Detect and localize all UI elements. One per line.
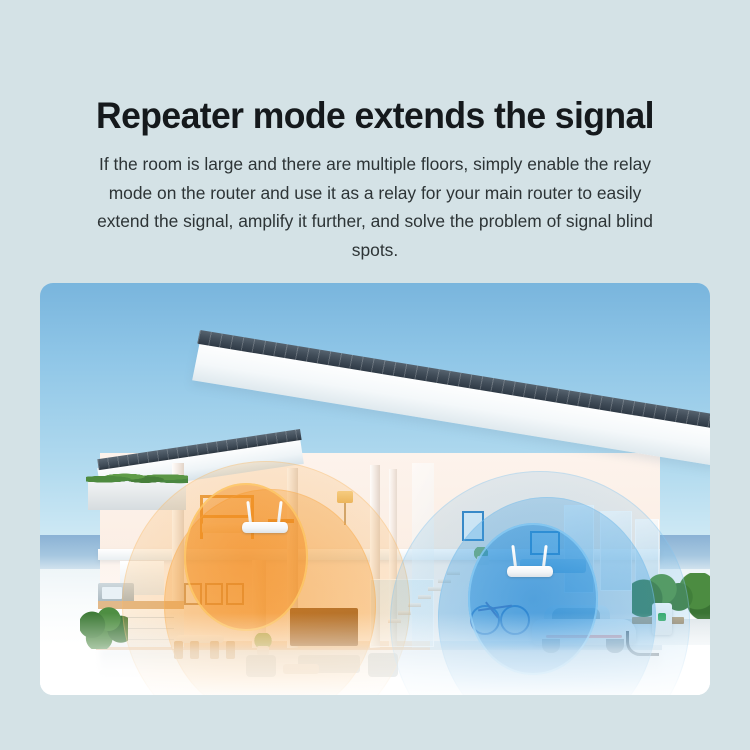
wall-frame-1 bbox=[184, 583, 202, 605]
foreground-fade bbox=[40, 613, 710, 695]
illustration-card bbox=[40, 283, 710, 695]
router-body bbox=[507, 566, 553, 577]
antenna-right bbox=[277, 501, 283, 523]
planter-greenery-icon bbox=[86, 469, 188, 486]
antenna-left bbox=[246, 501, 252, 523]
antenna-right bbox=[542, 545, 548, 567]
antenna-left bbox=[511, 545, 517, 567]
planter-box bbox=[88, 482, 186, 510]
right-wing-plant-icon bbox=[472, 547, 490, 565]
router-body bbox=[242, 522, 288, 533]
repeater-router-icon bbox=[507, 547, 553, 577]
window-left bbox=[564, 505, 594, 593]
page-root: Repeater mode extends the signal If the … bbox=[0, 0, 750, 750]
wall-frame-2 bbox=[205, 583, 223, 605]
wall-art-portrait bbox=[462, 511, 484, 541]
microwave-icon bbox=[98, 583, 134, 603]
window-center bbox=[600, 511, 632, 591]
bed-mattress bbox=[202, 523, 242, 533]
illustration-canvas bbox=[40, 283, 710, 695]
floor-lamp-icon bbox=[335, 491, 355, 525]
wall-frame-3 bbox=[226, 583, 244, 605]
page-description: If the room is large and there are multi… bbox=[92, 150, 658, 264]
page-title: Repeater mode extends the signal bbox=[15, 95, 735, 137]
main-router-icon bbox=[242, 503, 288, 533]
